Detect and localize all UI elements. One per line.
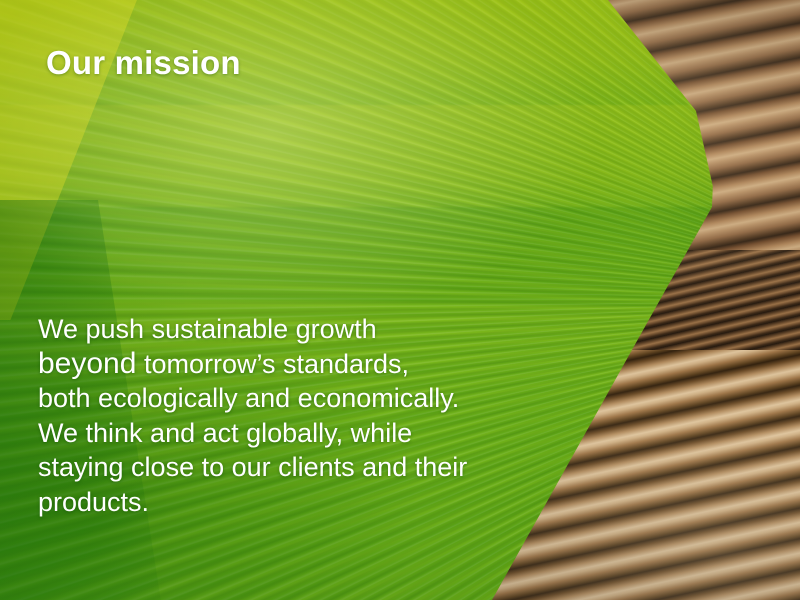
body-line-2: beyond tomorrow’s standards, [38,347,578,382]
body-line-1: We push sustainable growth [38,312,578,347]
body-line-6: products. [38,485,578,520]
body-line-4: We think and act globally, while [38,416,578,451]
body-line-3: both ecologically and economically. [38,381,578,416]
body-line-2-rest: tomorrow’s standards, [136,349,409,379]
slide-canvas: Our mission We push sustainable growth b… [0,0,800,600]
page-title: Our mission [46,44,241,82]
body-line-5: staying close to our clients and their [38,450,578,485]
mission-statement: We push sustainable growth beyond tomorr… [38,312,578,519]
body-line-2-emphasis: beyond [38,347,136,380]
